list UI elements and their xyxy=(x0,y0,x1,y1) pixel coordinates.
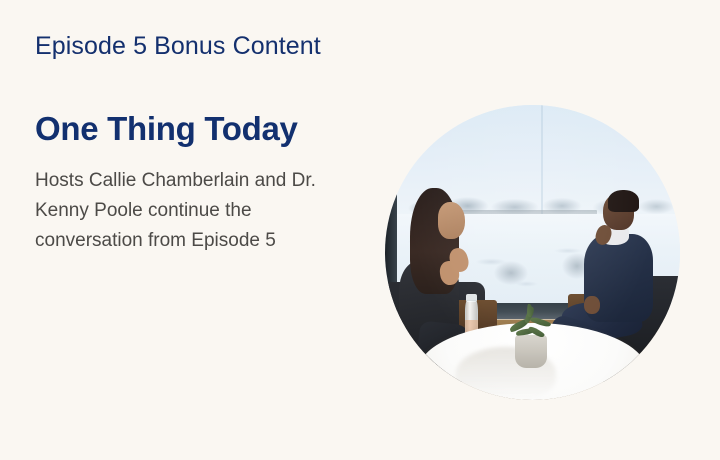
person-right-hair xyxy=(608,190,639,212)
photo-scene xyxy=(385,105,680,400)
page-title: One Thing Today xyxy=(35,110,380,148)
plant-leaf xyxy=(528,324,545,338)
episode-description: Hosts Callie Chamberlain and Dr. Kenny P… xyxy=(35,166,345,256)
text-column: Episode 5 Bonus Content One Thing Today … xyxy=(35,30,380,256)
episode-eyebrow: Episode 5 Bonus Content xyxy=(35,30,380,62)
episode-photo xyxy=(385,105,680,400)
bonus-content-promo-card: Episode 5 Bonus Content One Thing Today … xyxy=(0,0,720,460)
potted-plant xyxy=(506,306,556,344)
person-left-face xyxy=(438,202,466,239)
person-right-hand-on-knee xyxy=(584,296,599,314)
